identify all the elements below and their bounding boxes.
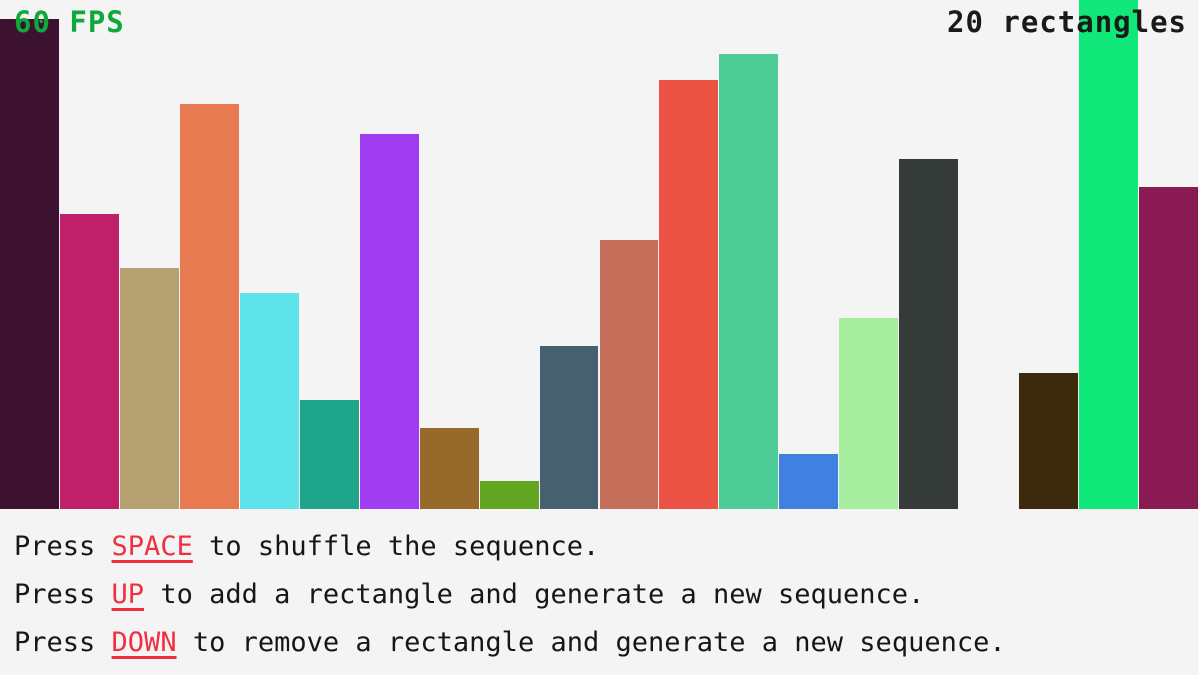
instruction-line: Press SPACE to shuffle the sequence. [14,523,1199,571]
instructions-panel: Press SPACE to shuffle the sequence.Pres… [0,509,1199,675]
bar-rectangle [480,481,539,509]
bar-rectangle [1139,187,1198,509]
instruction-line: Press DOWN to remove a rectangle and gen… [14,619,1199,667]
instruction-prefix: Press [14,531,112,562]
bar-rectangle [719,54,778,509]
bar-rectangle [180,104,239,509]
instruction-prefix: Press [14,627,112,658]
bar-rectangle [659,80,718,509]
bar-rectangle [899,159,958,509]
bar-rectangle [1019,373,1078,509]
bar-rectangle [540,346,599,509]
rectangle-chart[interactable] [0,0,1199,509]
key-highlight[interactable]: SPACE [112,531,193,562]
bar-rectangle [779,454,838,509]
instruction-line: Press UP to add a rectangle and generate… [14,571,1199,619]
bar-rectangle [420,428,479,509]
bar-rectangle [1079,0,1138,509]
bar-rectangle [360,134,419,509]
bar-rectangle [0,19,59,509]
key-highlight[interactable]: DOWN [112,627,177,658]
bar-rectangle [240,293,299,509]
bar-rectangle [300,400,359,509]
instruction-suffix: to add a rectangle and generate a new se… [144,579,924,610]
bar-rectangle [120,268,179,509]
bar-rectangle [600,240,659,509]
key-highlight[interactable]: UP [112,579,145,610]
instruction-prefix: Press [14,579,112,610]
instruction-suffix: to shuffle the sequence. [193,531,599,562]
instruction-suffix: to remove a rectangle and generate a new… [177,627,1006,658]
bar-rectangle [839,318,898,509]
bar-rectangle [60,214,119,509]
app-root: 60 FPS 20 rectangles Press SPACE to shuf… [0,0,1199,675]
